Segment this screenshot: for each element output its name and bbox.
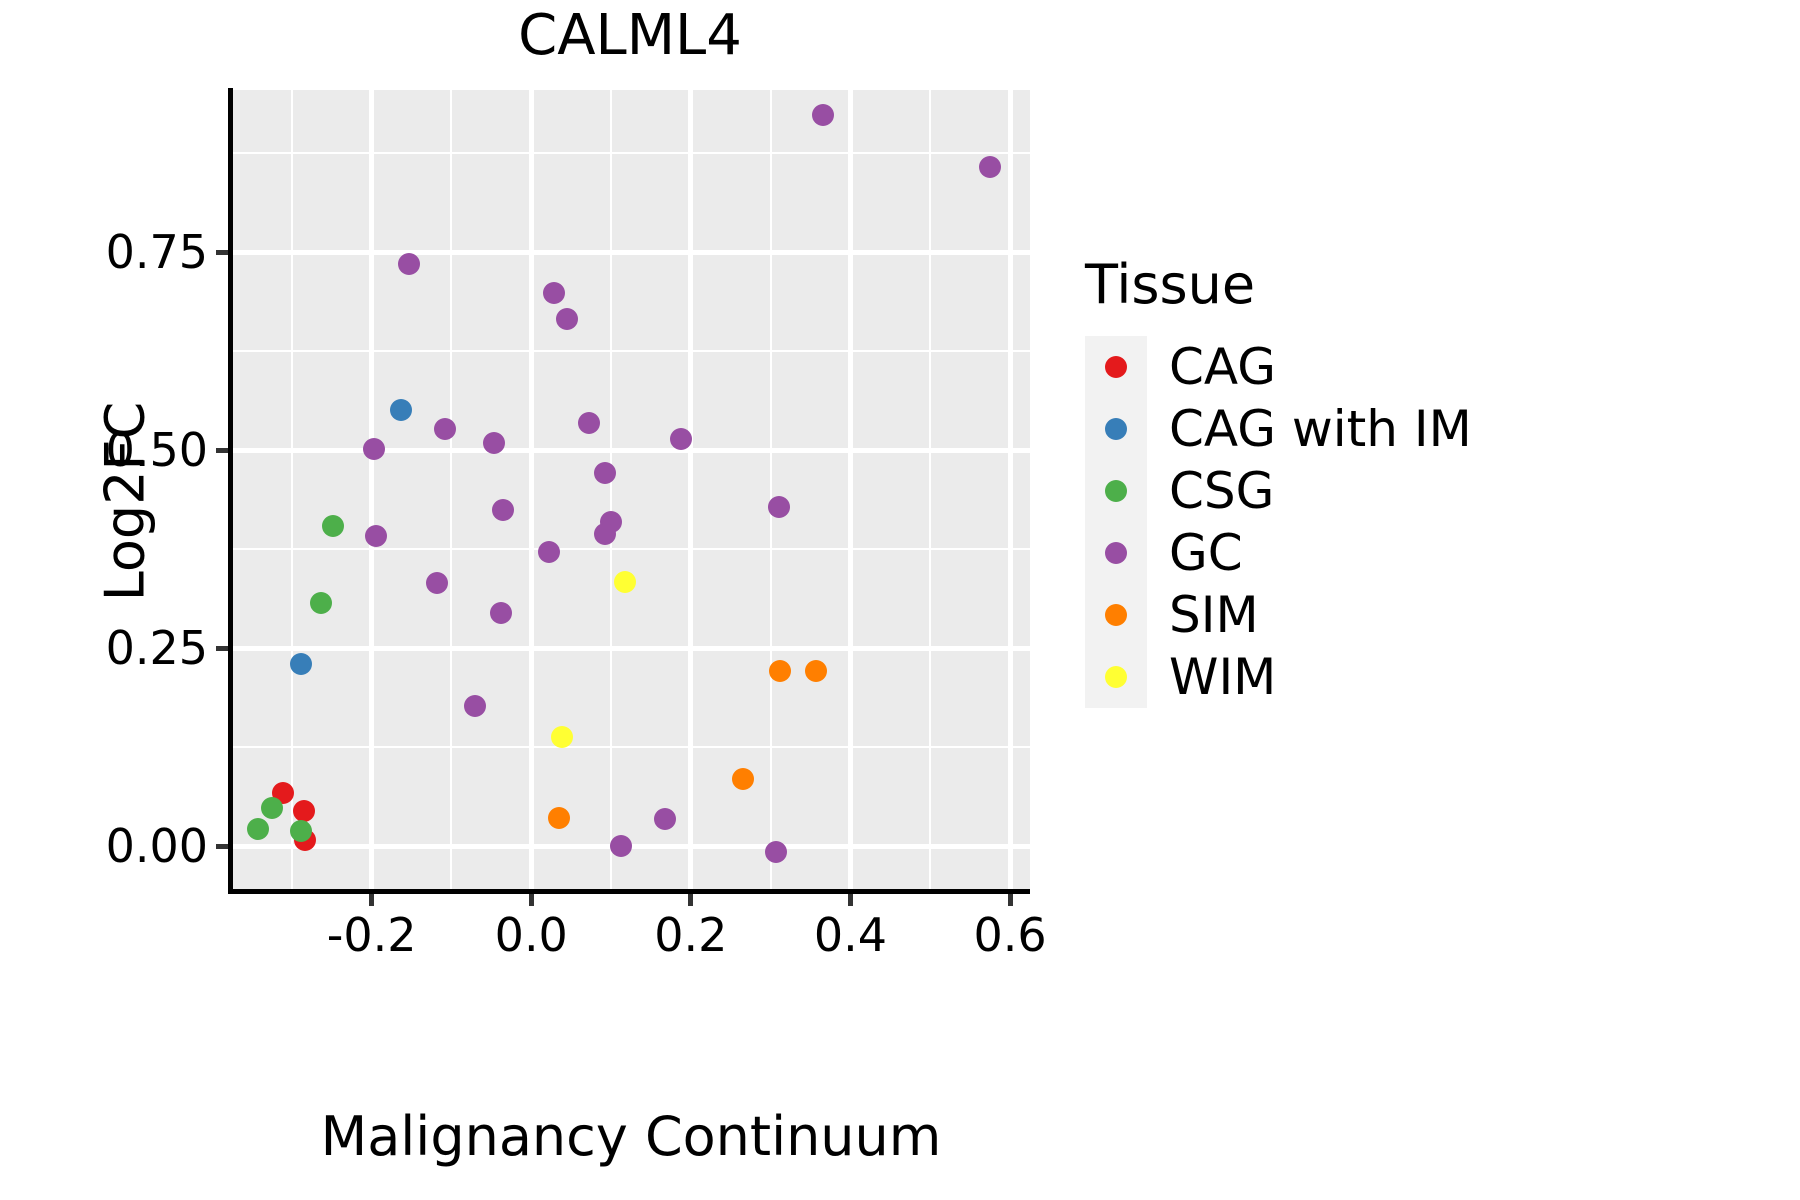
legend-item-sim[interactable]: SIM	[1085, 584, 1472, 646]
data-point	[614, 571, 636, 593]
legend-key	[1085, 460, 1147, 522]
gridline-vertical-minor	[770, 90, 772, 890]
legend-item-label: CAG with IM	[1169, 404, 1472, 454]
legend-key	[1085, 646, 1147, 708]
gridline-vertical-major	[369, 90, 374, 890]
legend-key	[1085, 584, 1147, 646]
legend-item-cag[interactable]: CAG	[1085, 336, 1472, 398]
legend-item-gc[interactable]: GC	[1085, 522, 1472, 584]
y-tick-mark	[216, 448, 228, 453]
data-point	[543, 282, 565, 304]
data-point	[805, 660, 827, 682]
data-point	[426, 572, 448, 594]
scatter-plot-figure: CALML4 0.000.250.500.75 -0.20.00.20.40.6…	[0, 0, 1800, 1200]
data-point	[765, 841, 787, 863]
data-point	[398, 253, 420, 275]
data-point	[492, 499, 514, 521]
page-title: CALML4	[230, 8, 1030, 64]
legend-key	[1085, 336, 1147, 398]
y-tick-mark	[216, 646, 228, 651]
gridline-horizontal-minor	[232, 152, 1030, 154]
gridline-vertical-minor	[610, 90, 612, 890]
data-point	[538, 541, 560, 563]
legend-title: Tissue	[1085, 258, 1472, 312]
legend-dot-icon	[1105, 418, 1127, 440]
data-point	[610, 835, 632, 857]
gridline-vertical-major	[688, 90, 693, 890]
x-tick-mark	[369, 894, 374, 906]
gridline-horizontal-major	[232, 646, 1030, 651]
x-axis-label: Malignancy Continuum	[232, 1105, 1030, 1168]
legend-dot-icon	[1105, 356, 1127, 378]
x-tick-mark	[529, 894, 534, 906]
legend-item-cag-with-im[interactable]: CAG with IM	[1085, 398, 1472, 460]
legend-dot-icon	[1105, 604, 1127, 626]
legend-dot-icon	[1105, 666, 1127, 688]
data-point	[483, 432, 505, 454]
plot-panel	[232, 90, 1030, 890]
data-point	[578, 412, 600, 434]
data-point	[979, 156, 1001, 178]
x-tick-mark	[1008, 894, 1013, 906]
legend: Tissue CAGCAG with IMCSGGCSIMWIM	[1085, 258, 1472, 708]
legend-item-label: SIM	[1169, 590, 1259, 640]
gridline-vertical-minor	[929, 90, 931, 890]
data-point	[434, 418, 456, 440]
gridline-vertical-major	[529, 90, 534, 890]
gridline-vertical-minor	[450, 90, 452, 890]
data-point	[594, 523, 616, 545]
data-point	[556, 308, 578, 330]
data-point	[769, 660, 791, 682]
gridline-horizontal-minor	[232, 746, 1030, 748]
x-tick-label: -0.2	[327, 912, 417, 958]
data-point	[290, 653, 312, 675]
data-point	[551, 726, 573, 748]
data-point	[670, 428, 692, 450]
data-point	[768, 496, 790, 518]
gridline-horizontal-major	[232, 250, 1030, 255]
legend-item-label: GC	[1169, 528, 1243, 578]
legend-key	[1085, 522, 1147, 584]
y-axis-label: Log2FC	[94, 102, 157, 902]
legend-item-label: CAG	[1169, 342, 1276, 392]
data-point	[365, 525, 387, 547]
data-point	[310, 592, 332, 614]
y-tick-mark	[216, 844, 228, 849]
x-tick-mark	[688, 894, 693, 906]
data-point	[464, 695, 486, 717]
legend-item-label: WIM	[1169, 652, 1276, 702]
data-point	[363, 438, 385, 460]
legend-dot-icon	[1105, 542, 1127, 564]
data-point	[322, 515, 344, 537]
data-point	[293, 800, 315, 822]
x-tick-label: 0.2	[654, 912, 727, 958]
x-axis-line	[228, 889, 1030, 894]
legend-key	[1085, 398, 1147, 460]
x-tick-label: 0.4	[814, 912, 887, 958]
x-tick-mark	[848, 894, 853, 906]
y-axis-line	[228, 88, 233, 894]
legend-item-label: CSG	[1169, 466, 1274, 516]
legend-item-csg[interactable]: CSG	[1085, 460, 1472, 522]
data-point	[261, 797, 283, 819]
gridline-horizontal-minor	[232, 350, 1030, 352]
data-point	[732, 768, 754, 790]
legend-items: CAGCAG with IMCSGGCSIMWIM	[1085, 336, 1472, 708]
gridline-horizontal-major	[232, 448, 1030, 453]
data-point	[247, 818, 269, 840]
gridline-horizontal-minor	[232, 548, 1030, 550]
legend-item-wim[interactable]: WIM	[1085, 646, 1472, 708]
x-tick-label: 0.6	[973, 912, 1046, 958]
gridline-vertical-major	[1008, 90, 1013, 890]
data-point	[390, 399, 412, 421]
data-point	[594, 462, 616, 484]
data-point	[654, 808, 676, 830]
data-point	[548, 807, 570, 829]
gridline-vertical-minor	[291, 90, 293, 890]
data-point	[490, 602, 512, 624]
x-tick-label: 0.0	[495, 912, 568, 958]
y-tick-mark	[216, 250, 228, 255]
gridline-vertical-major	[848, 90, 853, 890]
legend-dot-icon	[1105, 480, 1127, 502]
data-point	[812, 104, 834, 126]
